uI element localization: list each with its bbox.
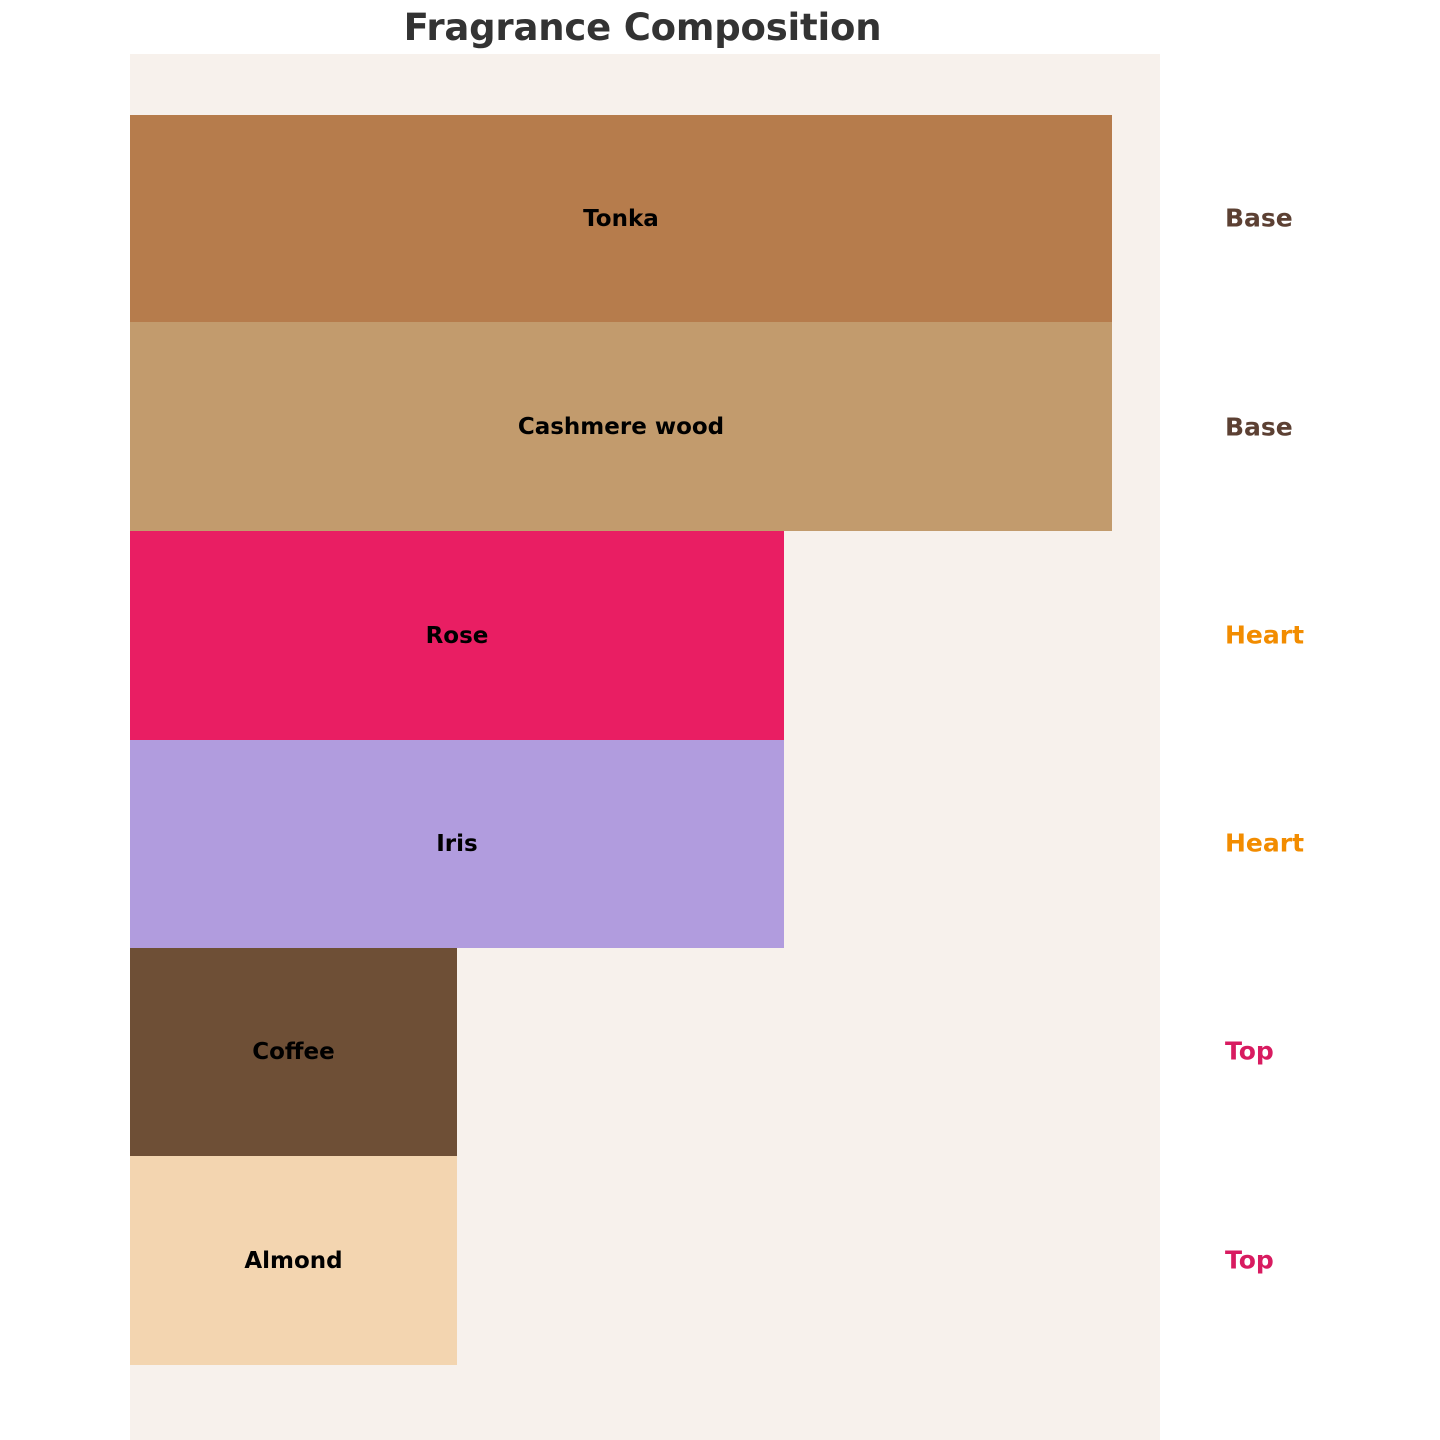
bar-iris[interactable]: Iris xyxy=(130,740,784,948)
group-label-heart-3: Heart xyxy=(1225,829,1304,858)
bar-label: Almond xyxy=(244,1248,342,1274)
group-label-top-5: Top xyxy=(1225,1246,1274,1275)
bar-rose[interactable]: Rose xyxy=(130,531,784,740)
plot-area: TonkaCashmere woodRoseIrisCoffeeAlmond xyxy=(130,54,1160,1440)
group-label-top-4: Top xyxy=(1225,1037,1274,1066)
bar-label: Iris xyxy=(436,831,477,857)
bar-almond[interactable]: Almond xyxy=(130,1156,457,1365)
group-label-heart-2: Heart xyxy=(1225,621,1304,650)
bar-tonka[interactable]: Tonka xyxy=(130,115,1112,322)
group-label-base-1: Base xyxy=(1225,413,1293,442)
page-title: Fragrance Composition xyxy=(0,6,1285,49)
bar-label: Rose xyxy=(426,623,489,649)
bar-label: Cashmere wood xyxy=(518,414,724,440)
bar-label: Tonka xyxy=(583,206,659,232)
bar-label: Coffee xyxy=(252,1039,335,1065)
bar-cashmere-wood[interactable]: Cashmere wood xyxy=(130,322,1112,531)
bar-coffee[interactable]: Coffee xyxy=(130,948,457,1156)
group-label-base-0: Base xyxy=(1225,204,1293,233)
chart-figure: Fragrance Composition TonkaCashmere wood… xyxy=(0,0,1440,1440)
